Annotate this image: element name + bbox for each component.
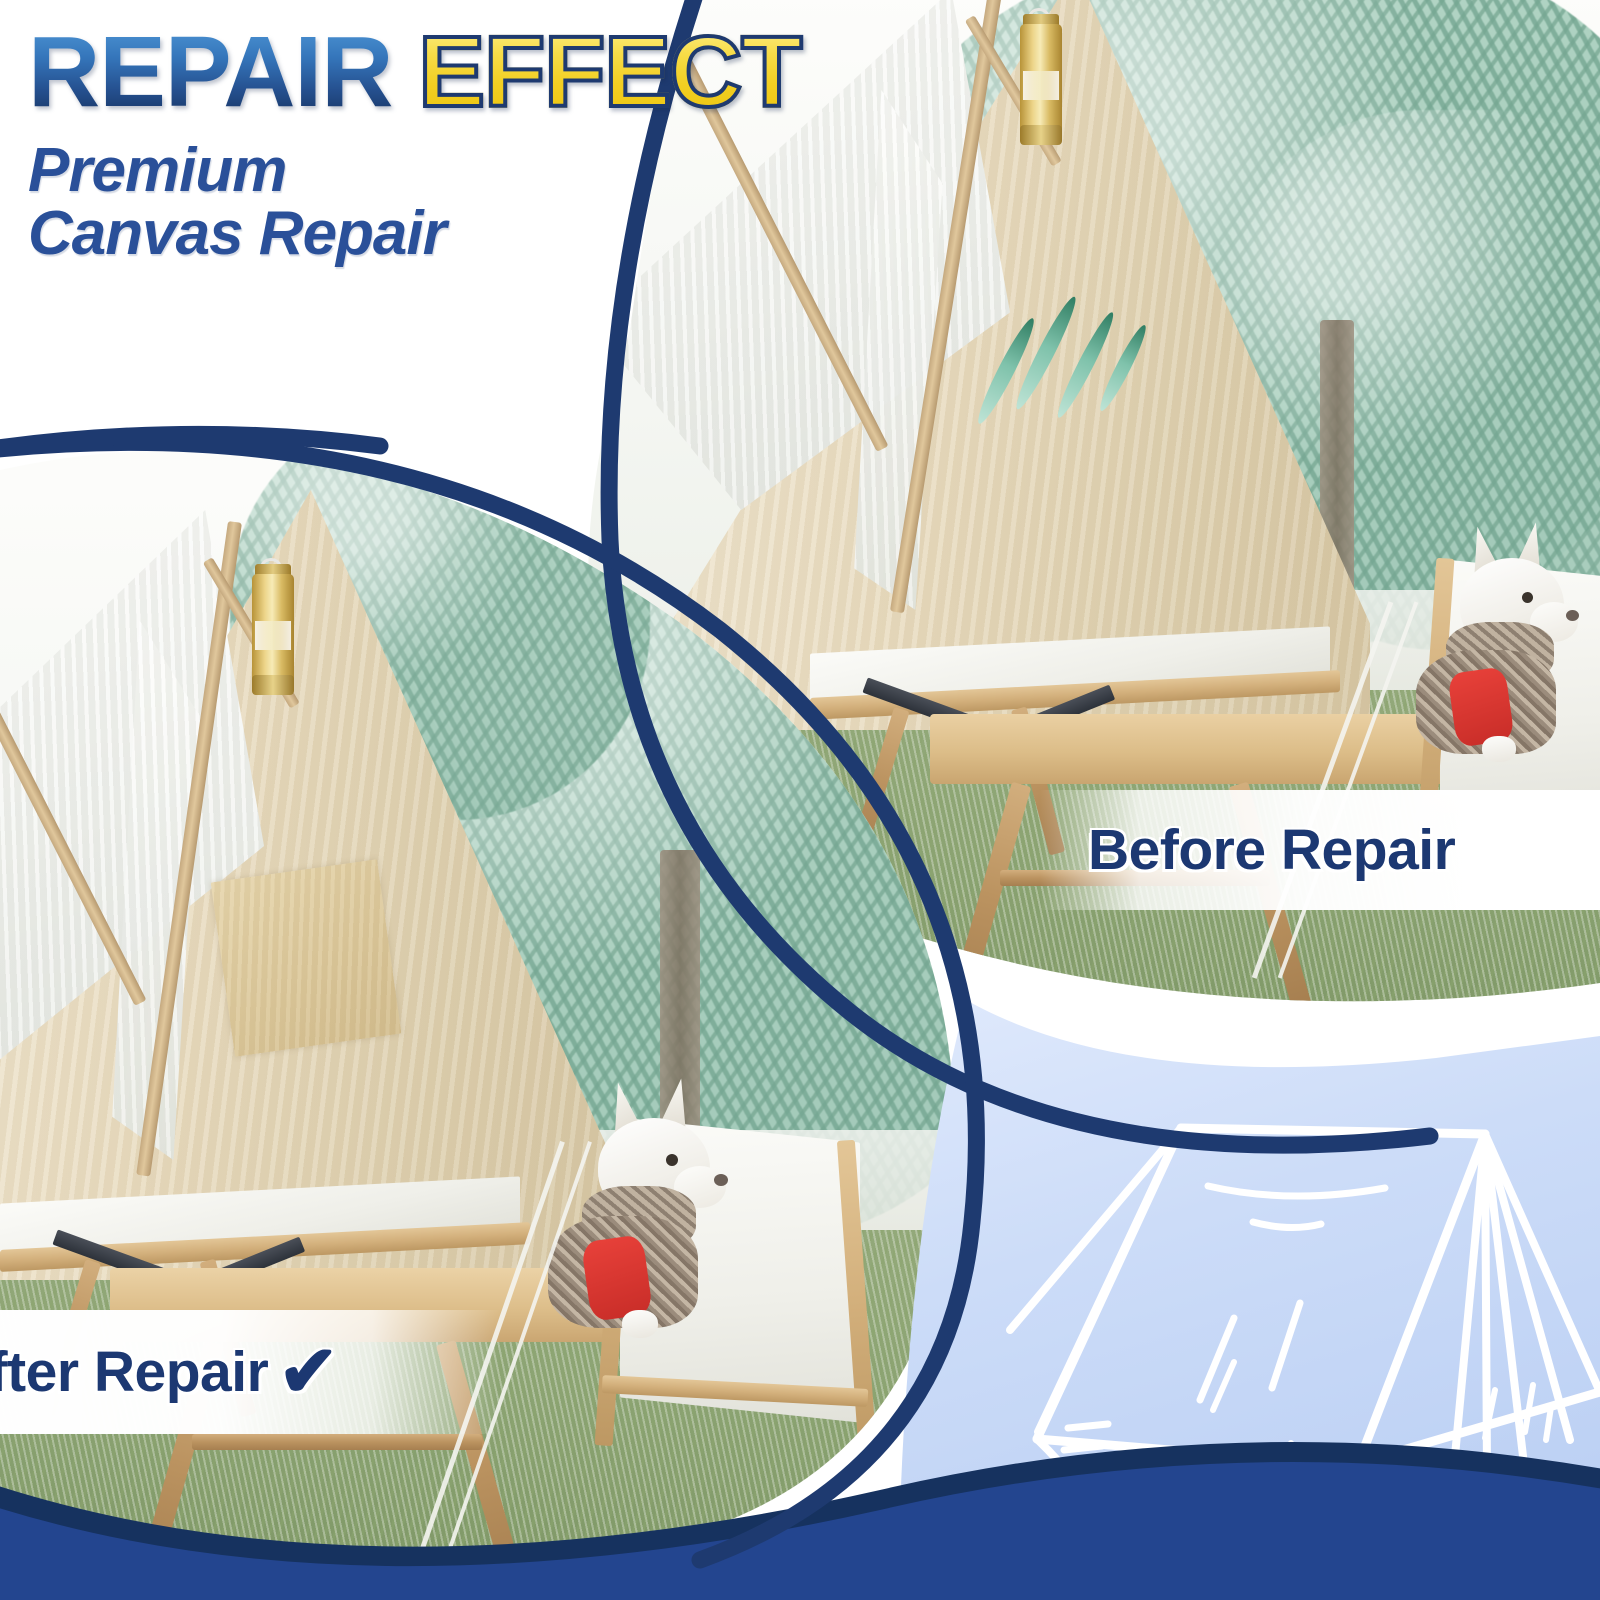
- label-after-repair: After Repair: [0, 1339, 268, 1405]
- headline-repair: REPAIR: [28, 22, 392, 122]
- illustration-backdrop: [898, 1000, 1600, 1600]
- checkmark-icon: ✔: [278, 1336, 338, 1408]
- dog-photo-subject: [526, 1088, 756, 1338]
- lantern-icon: [252, 574, 294, 686]
- tent-line-art: [1010, 1128, 1600, 1560]
- poster-canvas: Before Repair: [0, 0, 1600, 1600]
- label-before-repair: Before Repair: [1088, 817, 1455, 883]
- label-band-before: Before Repair: [1040, 790, 1600, 910]
- label-band-after: After Repair ✔: [0, 1310, 500, 1434]
- repair-patch: [211, 859, 402, 1057]
- dog-photo-subject: [1390, 530, 1600, 760]
- divider-curve-after-top: [0, 434, 380, 452]
- lantern-icon: [1020, 24, 1062, 136]
